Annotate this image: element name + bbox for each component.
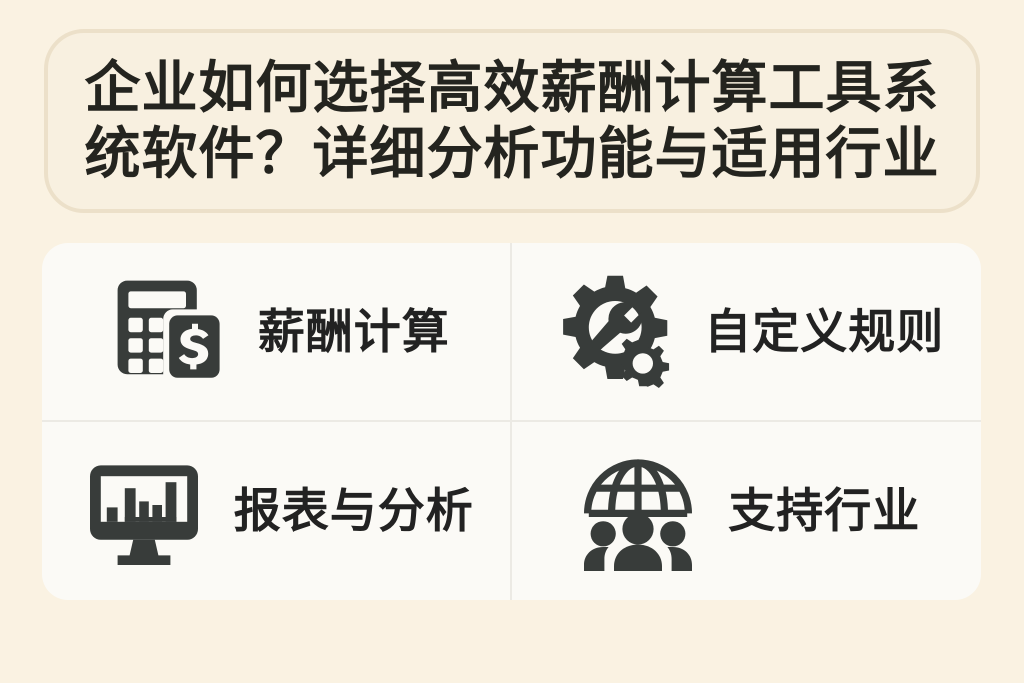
feature-label: 自定义规则 — [704, 307, 944, 356]
gear-wrench-icon — [548, 265, 680, 397]
title-card: 企业如何选择高效薪酬计算工具系 统软件？详细分析功能与适用行业 — [44, 29, 980, 213]
feature-label: 支持行业 — [728, 486, 920, 535]
page-title-line-1: 企业如何选择高效薪酬计算工具系 — [85, 55, 940, 121]
page-title-line-2: 统软件？详细分析功能与适用行业 — [85, 121, 940, 187]
feature-cell-reports-analysis[interactable]: 报表与分析 — [42, 422, 512, 601]
feature-cell-custom-rules[interactable]: 自定义规则 — [512, 243, 982, 422]
globe-people-icon — [572, 445, 704, 577]
monitor-bar-chart-icon — [78, 445, 210, 577]
feature-grid-card: 薪酬计算 自定义规则 — [42, 243, 981, 600]
feature-label: 报表与分析 — [234, 486, 474, 535]
feature-label: 薪酬计算 — [258, 307, 450, 356]
calculator-dollar-icon — [102, 265, 234, 397]
feature-cell-payroll-calculation[interactable]: 薪酬计算 — [42, 243, 512, 422]
poster-canvas: 企业如何选择高效薪酬计算工具系 统软件？详细分析功能与适用行业 — [0, 0, 1024, 683]
feature-cell-supported-industries[interactable]: 支持行业 — [512, 422, 982, 601]
